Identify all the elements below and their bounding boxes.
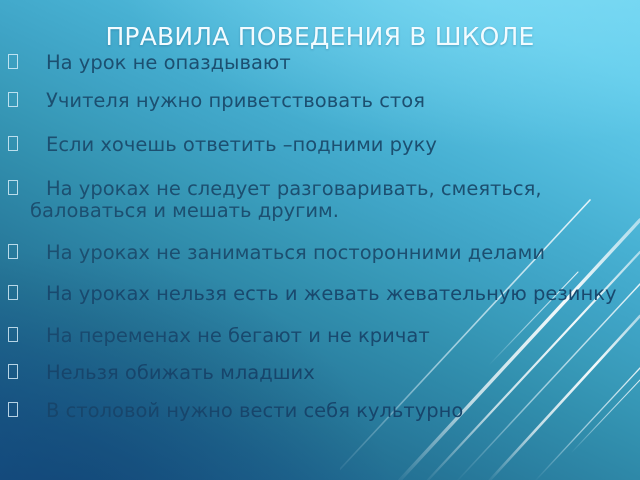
rules-list: На урок не опаздывают Учителя нужно прив… [0,52,640,422]
list-item-label: Учителя нужно приветствовать стоя [30,90,634,113]
list-item-label: Нельзя обижать младших [30,362,634,385]
bullet-box-icon [8,92,18,107]
list-item: На уроках не следует разговаривать, смея… [0,178,640,223]
list-item-label: Если хочешь ответить –подними руку [30,134,634,157]
bullet-box-icon [8,327,18,342]
presentation-slide: ПРАВИЛА ПОВЕДЕНИЯ В ШКОЛЕ На урок не опа… [0,0,640,480]
list-item: Нельзя обижать младших [0,362,640,385]
list-item: На уроках нельзя есть и жевать жевательн… [0,283,640,306]
bullet-box-icon [8,285,18,300]
list-item-label: На урок не опаздывают [30,52,634,75]
bullet-box-icon [8,136,18,151]
list-item-label: На уроках нельзя есть и жевать жевательн… [30,283,634,306]
list-item: На уроках не заниматься посторонними дел… [0,242,640,265]
list-item-label: На уроках не следует разговаривать, смея… [30,178,634,223]
list-item: Если хочешь ответить –подними руку [0,134,640,157]
list-item-label: В столовой нужно вести себя культурно [30,400,634,423]
list-item-label: На переменах не бегают и не кричат [30,325,634,348]
bullet-box-icon [8,402,18,417]
slide-title: ПРАВИЛА ПОВЕДЕНИЯ В ШКОЛЕ [0,22,640,52]
list-item: Учителя нужно приветствовать стоя [0,90,640,113]
list-item-label: На уроках не заниматься посторонними дел… [30,242,634,265]
bullet-box-icon [8,244,18,259]
list-item: На переменах не бегают и не кричат [0,325,640,348]
list-item: В столовой нужно вести себя культурно [0,400,640,423]
list-item: На урок не опаздывают [0,52,640,75]
bullet-box-icon [8,180,18,195]
bullet-box-icon [8,364,18,379]
bullet-box-icon [8,54,18,69]
